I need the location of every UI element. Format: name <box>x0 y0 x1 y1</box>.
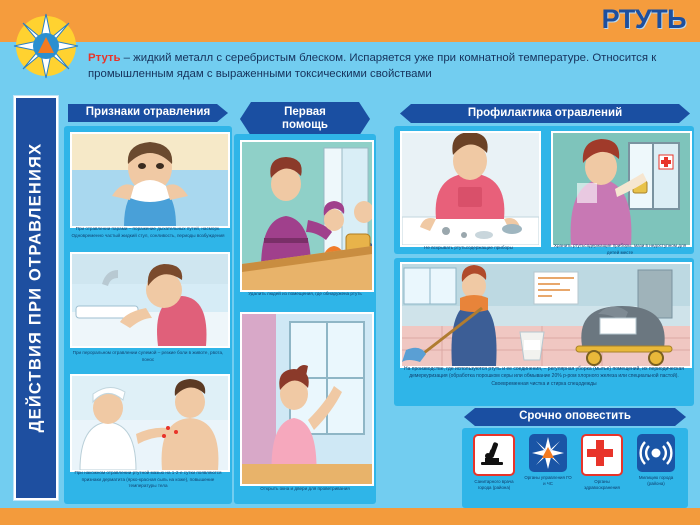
notify-item-health[interactable]: Органы здравоохранения <box>578 434 626 491</box>
notify-panel: Санитарного врача города (района) <box>462 428 688 508</box>
prevention-caption-2: Хранить ртутьсодержащие приборы, мази в … <box>549 243 691 256</box>
microscope-icon <box>473 434 515 476</box>
section-header-notify: Срочно оповестить <box>464 408 686 426</box>
section-header-first-aid: Первая помощь <box>240 102 370 136</box>
first-aid-title-line2: помощь <box>282 119 328 132</box>
first-aid-caption-1: Удалить людей из помещения, где обнаруже… <box>240 291 370 298</box>
section-header-signs: Признаки отравления <box>68 104 228 122</box>
poster-root: РТУТЬ ДЕЙСТВИЯ ПРИ ОТРАВЛЕНИЯХ Ртуть – ж… <box>0 0 700 525</box>
notify-label-civil-defense: Органы управления ГО и ЧС <box>524 475 572 487</box>
notify-item-civil-defense[interactable]: Органы управления ГО и ЧС <box>524 434 572 487</box>
signs-image-2 <box>70 252 230 348</box>
prevention-image-3 <box>400 262 692 368</box>
signs-caption-3: При накожном отравлении ртутной мазью на… <box>68 470 228 490</box>
page-title: РТУТЬ <box>602 4 686 35</box>
signs-image-3 <box>70 374 230 472</box>
civil-defense-star-icon <box>529 434 567 472</box>
mchs-star-emblem <box>12 12 80 80</box>
notify-label-sanitary-doctor: Санитарного врача города (района) <box>470 479 518 491</box>
radio-waves-icon <box>637 434 675 472</box>
prevention-image-1 <box>400 131 541 247</box>
notify-label-health: Органы здравоохранения <box>578 479 626 491</box>
prevention-image-2 <box>551 131 692 247</box>
first-aid-image-2 <box>240 312 374 486</box>
intro-highlight: Ртуть <box>88 52 121 64</box>
section-header-prevention: Профилактика отравлений <box>400 104 690 123</box>
first-aid-caption-2: Открыть окна и двери для проветривания <box>240 486 370 493</box>
notify-item-sanitary-doctor[interactable]: Санитарного врача города (района) <box>470 434 518 491</box>
bottom-orange-strip <box>0 508 700 525</box>
first-aid-title-line1: Первая <box>284 106 326 119</box>
notify-label-police: Милицию города (района) <box>632 475 680 487</box>
notify-item-police[interactable]: Милицию города (района) <box>632 434 680 487</box>
side-banner-label: ДЕЙСТВИЯ ПРИ ОТРАВЛЕНИЯХ <box>27 88 46 488</box>
intro-text: Ртуть – жидкий металл с серебристым блес… <box>88 50 688 82</box>
intro-body: – жидкий металл с серебристым блеском. И… <box>88 52 656 80</box>
prevention-caption-3: На производстве, где используются ртуть … <box>398 366 690 388</box>
header-bar <box>0 0 700 42</box>
signs-caption-1: При отравлении парами – поражение дыхате… <box>70 226 226 239</box>
signs-caption-2: При пероральном отравлении сулемой – рез… <box>70 350 226 363</box>
first-aid-image-1 <box>240 140 374 292</box>
side-banner: ДЕЙСТВИЯ ПРИ ОТРАВЛЕНИЯХ <box>14 96 58 500</box>
red-cross-icon <box>581 434 623 476</box>
signs-image-1 <box>70 132 230 228</box>
prevention-caption-1: Не вскрывать ртутьсодержащие приборы <box>400 245 537 252</box>
